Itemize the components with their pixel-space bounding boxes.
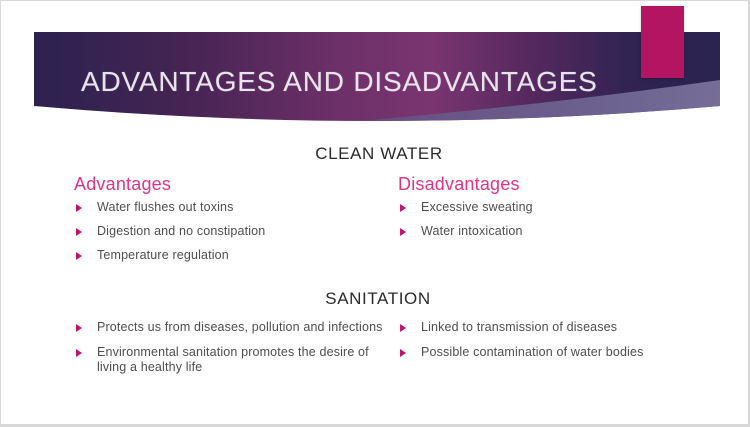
title-banner: ADVANTAGES AND DISADVANTAGES (34, 32, 720, 136)
slide-canvas: ADVANTAGES AND DISADVANTAGES CLEAN WATER… (1, 1, 748, 424)
sanitation-advantages-list: Protects us from diseases, pollution and… (72, 320, 386, 375)
disadvantages-list: Excessive sweating Water intoxication (396, 200, 750, 239)
advantages-list: Water flushes out toxins Digestion and n… (72, 200, 386, 263)
list-item-text: Water intoxication (421, 224, 523, 238)
list-item: Protects us from diseases, pollution and… (72, 320, 386, 335)
sanitation-disadvantages-column: Linked to transmission of diseases Possi… (386, 320, 750, 385)
triangle-bullet-icon (76, 349, 82, 357)
slide-frame: ADVANTAGES AND DISADVANTAGES CLEAN WATER… (0, 0, 750, 427)
clean-water-columns: Advantages Water flushes out toxins Dige… (1, 174, 750, 272)
list-item: Water intoxication (396, 224, 750, 239)
sanitation-columns: Protects us from diseases, pollution and… (1, 320, 750, 385)
list-item: Linked to transmission of diseases (396, 320, 750, 335)
list-item-text: Temperature regulation (97, 248, 229, 262)
list-item: Temperature regulation (72, 248, 386, 263)
triangle-bullet-icon (400, 324, 406, 332)
triangle-bullet-icon (76, 324, 82, 332)
section-sanitation: SANITATION Protects us from diseases, po… (1, 289, 750, 385)
triangle-bullet-icon (400, 349, 406, 357)
list-item: Possible contamination of water bodies (396, 345, 750, 360)
triangle-bullet-icon (400, 204, 406, 212)
section-title-sanitation: SANITATION (1, 289, 750, 309)
triangle-bullet-icon (76, 228, 82, 236)
clean-water-advantages-column: Advantages Water flushes out toxins Dige… (1, 174, 386, 272)
triangle-bullet-icon (76, 204, 82, 212)
list-item-text: Protects us from diseases, pollution and… (97, 320, 383, 334)
list-item-text: Water flushes out toxins (97, 200, 234, 214)
sanitation-disadvantages-list: Linked to transmission of diseases Possi… (396, 320, 750, 360)
triangle-bullet-icon (400, 228, 406, 236)
sanitation-advantages-column: Protects us from diseases, pollution and… (1, 320, 386, 385)
list-item-text: Excessive sweating (421, 200, 533, 214)
list-item: Environmental sanitation promotes the de… (72, 345, 386, 375)
list-item: Water flushes out toxins (72, 200, 386, 215)
list-item: Excessive sweating (396, 200, 750, 215)
list-item: Digestion and no constipation (72, 224, 386, 239)
list-item-text: Digestion and no constipation (97, 224, 265, 238)
section-clean-water: CLEAN WATER Advantages Water flushes out… (1, 144, 750, 272)
disadvantages-heading: Disadvantages (398, 174, 750, 195)
list-item-text: Linked to transmission of diseases (421, 320, 617, 334)
accent-rectangle (641, 6, 684, 78)
list-item-text: Possible contamination of water bodies (421, 345, 644, 359)
advantages-heading: Advantages (74, 174, 386, 195)
triangle-bullet-icon (76, 252, 82, 260)
list-item-text: Environmental sanitation promotes the de… (97, 345, 369, 374)
slide-title: ADVANTAGES AND DISADVANTAGES (81, 66, 598, 98)
clean-water-disadvantages-column: Disadvantages Excessive sweating Water i… (386, 174, 750, 272)
slide-body: CLEAN WATER Advantages Water flushes out… (1, 144, 750, 385)
section-title-clean-water: CLEAN WATER (1, 144, 750, 164)
